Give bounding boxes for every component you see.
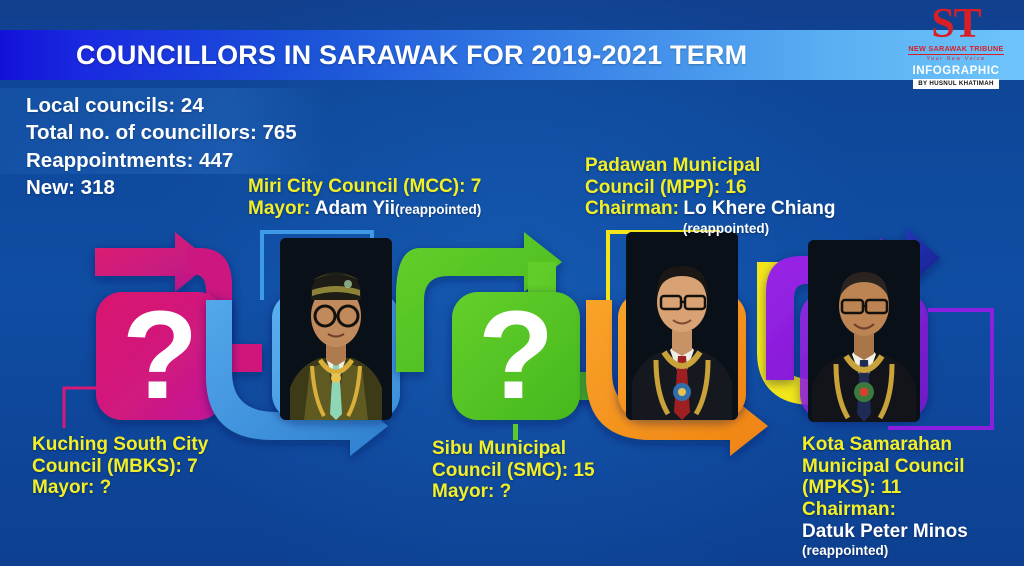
portrait-mpks-datuk-peter-minos (808, 240, 920, 422)
title-bar: COUNCILLORS IN SARAWAK FOR 2019-2021 TER… (0, 30, 1024, 80)
council-name-mpks-line2: Municipal Council (802, 456, 965, 477)
council-role-mbks: Mayor: ? (32, 477, 111, 498)
connector-mbks (64, 388, 96, 428)
council-name-mpks-line3: (MPKS): 11 (802, 477, 901, 498)
stat-reappointments: Reappointments: 447 (26, 147, 297, 174)
council-name-smc-line2: Council (SMC): 15 (432, 460, 595, 481)
question-mark-smc: ? (478, 286, 554, 425)
stat-total-councillors: Total no. of councillors: 765 (26, 119, 297, 146)
council-leader-mpks: Datuk Peter Minos (802, 521, 968, 542)
council-role-smc: Mayor: ? (432, 481, 511, 502)
council-status-mcc: (reappointed) (395, 202, 481, 217)
council-name-mpp-line2: Council (MPP): 16 (585, 177, 747, 198)
stat-local-councils: Local councils: 24 (26, 92, 297, 119)
council-label-mbks: Kuching South City Council (MBKS): 7 May… (32, 434, 208, 499)
council-label-mpp: Padawan Municipal Council (MPP): 16 Chai… (585, 155, 867, 238)
council-status-mpp: (reappointed) (683, 221, 769, 236)
council-status-mpks: (reappointed) (802, 543, 888, 558)
council-name-mbks-line1: Kuching South City (32, 434, 208, 455)
council-label-mcc: Miri City Council (MCC): 7 Mayor: Adam Y… (248, 176, 481, 219)
logo-credit: BY HUSNUL KHATIMAH (913, 79, 999, 89)
logo-infographic-label: INFOGRAPHIC (912, 65, 999, 77)
logo-tagline: Your New Voice (926, 56, 985, 62)
council-role-mcc: Mayor: (248, 198, 310, 219)
council-role-mpks: Chairman: (802, 499, 896, 520)
council-name-smc-line1: Sibu Municipal (432, 438, 566, 459)
infographic-canvas: ? ? (0, 0, 1024, 566)
council-leader-mpp: Lo Khere Chiang (683, 198, 835, 219)
logo-monogram: ST (931, 6, 980, 43)
council-name-mcc: Miri City Council (MCC): 7 (248, 176, 481, 197)
council-label-smc: Sibu Municipal Council (SMC): 15 Mayor: … (432, 438, 595, 503)
page-title: COUNCILLORS IN SARAWAK FOR 2019-2021 TER… (76, 40, 747, 71)
council-leader-mcc: Adam Yii (315, 198, 395, 219)
council-name-mpp-line1: Padawan Municipal (585, 155, 760, 176)
council-name-mpks-line1: Kota Samarahan (802, 434, 952, 455)
logo-publication-name: NEW SARAWAK TRIBUNE (908, 44, 1003, 55)
publisher-logo: ST NEW SARAWAK TRIBUNE Your New Voice IN… (902, 6, 1010, 98)
council-label-mpks: Kota Samarahan Municipal Council (MPKS):… (802, 434, 968, 561)
question-mark-mbks: ? (122, 286, 198, 425)
council-name-mbks-line2: Council (MBKS): 7 (32, 456, 198, 477)
council-role-mpp: Chairman: (585, 198, 679, 219)
portrait-mcc-adam-yii (280, 238, 392, 420)
portrait-mpp-lo-khere-chiang (626, 232, 738, 420)
